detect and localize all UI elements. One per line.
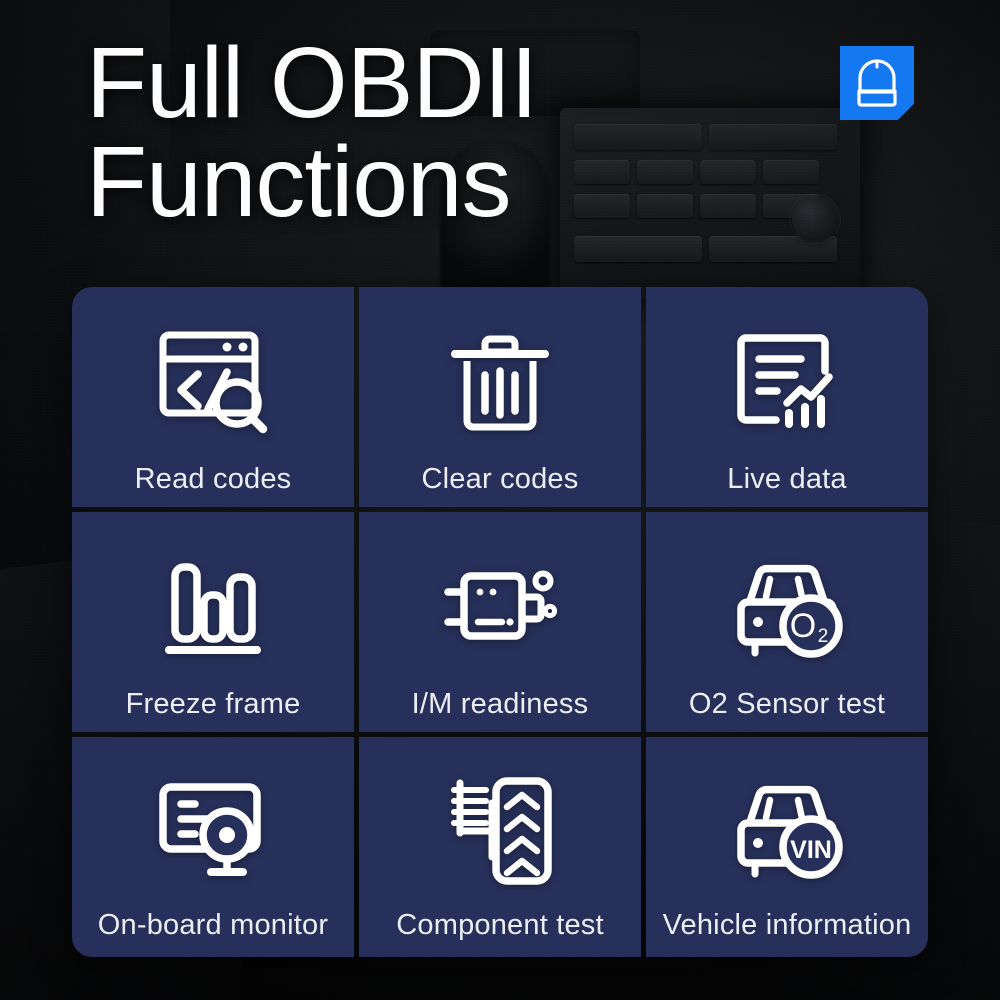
feature-card-label: Live data bbox=[727, 463, 847, 496]
o2-badge-subscript: 2 bbox=[818, 626, 829, 647]
feature-card-label: Read codes bbox=[135, 463, 292, 496]
feature-card-live-data[interactable]: Live data bbox=[646, 287, 928, 507]
feature-card-label: O2 Sensor test bbox=[689, 688, 885, 721]
dome-helmet-icon bbox=[840, 46, 914, 120]
bar-chart-icon bbox=[155, 546, 271, 674]
document-chart-icon bbox=[729, 321, 845, 449]
feature-card-vehicle-information[interactable]: VIN Vehicle information bbox=[646, 737, 928, 957]
feature-card-label: On-board monitor bbox=[98, 909, 328, 942]
trash-can-icon bbox=[445, 321, 555, 449]
car-o2-badge-icon: O 2 bbox=[725, 546, 849, 674]
feature-card-clear-codes[interactable]: Clear codes bbox=[359, 287, 641, 507]
feature-card-label: Freeze frame bbox=[126, 688, 301, 721]
promo-banner: Full OBDII Functions bbox=[0, 0, 1000, 1000]
feature-card-label: Component test bbox=[396, 909, 604, 942]
brand-logo bbox=[840, 46, 914, 120]
feature-card-component-test[interactable]: Component test bbox=[359, 737, 641, 957]
feature-card-read-codes[interactable]: Read codes bbox=[72, 287, 354, 507]
feature-card-on-board-monitor[interactable]: On-board monitor bbox=[72, 737, 354, 957]
tire-tread-icon bbox=[440, 767, 560, 895]
car-vin-badge-icon: VIN bbox=[725, 767, 849, 895]
code-window-search-icon bbox=[153, 321, 273, 449]
feature-card-label: Vehicle information bbox=[663, 909, 912, 942]
feature-grid: Read codes Clear codes bbox=[72, 287, 928, 957]
feature-card-im-readiness[interactable]: I/M readiness bbox=[359, 512, 641, 732]
feature-card-o2-sensor-test[interactable]: O 2 O2 Sensor test bbox=[646, 512, 928, 732]
monitor-camera-icon bbox=[149, 767, 277, 895]
feature-card-freeze-frame[interactable]: Freeze frame bbox=[72, 512, 354, 732]
o2-badge-letter: O bbox=[790, 607, 816, 645]
feature-card-label: Clear codes bbox=[422, 463, 579, 496]
control-module-icon bbox=[438, 546, 562, 674]
vin-badge-text: VIN bbox=[790, 836, 832, 864]
page-title: Full OBDII Functions bbox=[86, 34, 537, 232]
feature-card-label: I/M readiness bbox=[412, 688, 589, 721]
